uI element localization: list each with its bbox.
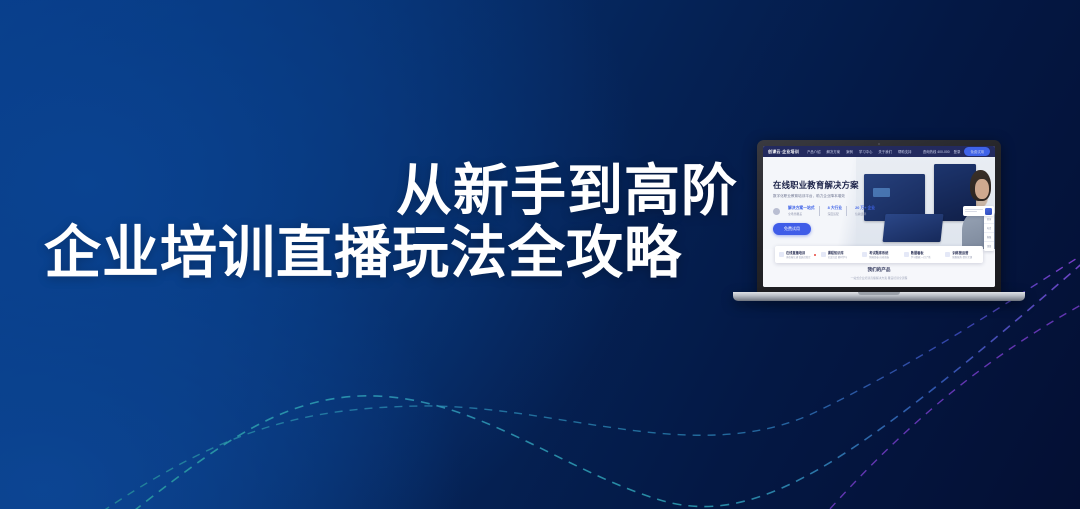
chat-avatar [985, 208, 992, 215]
hero-stat-2: 20 万+ 企业 信赖选择 [851, 206, 879, 216]
hero-stat-2-label: 信赖选择 [855, 212, 875, 216]
nav-link-5[interactable]: 帮助支持 [898, 149, 912, 154]
feature-item-2[interactable]: 考试题库系统 智能组卷 自动阅卷 [858, 250, 900, 260]
nav-link-1[interactable]: 解决方案 [827, 149, 841, 154]
feature-badge-dot-icon [814, 254, 816, 256]
promotional-banner: 从新手到高阶 企业培训直播玩法全攻略 创课云·企业培训 产品介绍 解决方案 案例… [0, 0, 1080, 509]
side-toolbar: 咨询 电话 客服 顶部 [984, 214, 994, 251]
hero-stat-1-label: 深度适配 [828, 212, 843, 216]
stat-badge-icon [773, 208, 780, 215]
feature-sub-2: 智能组卷 自动阅卷 [869, 255, 889, 259]
feature-sub-4: 陪跑服务 提升完课 [952, 255, 972, 259]
tablet-device [882, 214, 943, 242]
feature-icon-1 [821, 252, 826, 257]
site-hero: 在线职业教育解决方案 数字化职业教育培训平台，助力企业降本增效 解决方案一站式 … [763, 157, 995, 249]
laptop-screen: 创课云·企业培训 产品介绍 解决方案 案例 学习中心 关于我们 帮助支持 咨询热… [763, 146, 995, 287]
feature-title-0: 在线直播培训 [786, 250, 811, 255]
feature-sub-1: 沉淀沉淀 随时学习 [828, 255, 848, 259]
hero-stat-0-value: 解决方案一站式 [788, 206, 815, 211]
hero-copy: 在线职业教育解决方案 数字化职业教育培训平台，助力企业降本增效 解决方案一站式 … [773, 179, 885, 235]
site-logo: 创课云·企业培训 [768, 149, 799, 155]
hero-subtitle: 数字化职业教育培训平台，助力企业降本增效 [773, 194, 885, 199]
feature-sub-0: 多终端互通 低延迟稳定 [786, 255, 811, 259]
headline-block: 从新手到高阶 企业培训直播玩法全攻略 [44, 160, 744, 284]
hero-stats: 解决方案一站式 全场景覆盖 8 大行业 深度适配 20 万+ 企业 信赖选择 [773, 206, 885, 216]
webcam-icon [878, 143, 880, 145]
nav-link-3[interactable]: 学习中心 [859, 149, 873, 154]
nav-link-2[interactable]: 案例 [846, 149, 853, 154]
hero-stat-2-value: 20 万+ 企业 [855, 206, 875, 211]
hero-stat-1: 8 大行业 深度适配 [824, 206, 848, 216]
site-nav-links: 产品介绍 解决方案 案例 学习中心 关于我们 帮助支持 [807, 149, 912, 154]
laptop-mockup: 创课云·企业培训 产品介绍 解决方案 案例 学习中心 关于我们 帮助支持 咨询热… [733, 140, 1025, 315]
feature-icon-4 [945, 252, 950, 257]
nav-link-4[interactable]: 关于我们 [878, 149, 892, 154]
side-toolbar-item-2[interactable]: 客服 [984, 233, 994, 242]
site-navbar: 创课云·企业培训 产品介绍 解决方案 案例 学习中心 关于我们 帮助支持 咨询热… [763, 146, 995, 157]
hero-cta-button[interactable]: 免费试用 [773, 223, 811, 235]
side-toolbar-item-1[interactable]: 电话 [984, 224, 994, 233]
section-subtitle: 一站式企业培训直播解决方案 覆盖培训全流程 [763, 276, 995, 280]
site-nav-right: 咨询热线 400-000 登录 免费试用 [923, 147, 990, 155]
laptop-base [733, 292, 1025, 301]
nav-cta-button[interactable]: 免费试用 [964, 147, 990, 155]
feature-title-2: 考试题库系统 [869, 250, 889, 255]
nav-link-0[interactable]: 产品介绍 [807, 149, 821, 154]
feature-icon-2 [862, 252, 867, 257]
feature-item-3[interactable]: 数据看板 学习数据 一目了然 [900, 250, 942, 260]
section-title: 我们的产品 [763, 267, 995, 273]
feature-icon-3 [904, 252, 909, 257]
feature-item-1[interactable]: 课程知识库 沉淀沉淀 随时学习 [817, 250, 859, 260]
side-toolbar-item-3[interactable]: 顶部 [984, 242, 994, 250]
laptop-lid: 创课云·企业培训 产品介绍 解决方案 案例 学习中心 关于我们 帮助支持 咨询热… [757, 140, 1001, 294]
feature-item-0[interactable]: 在线直播培训 多终端互通 低延迟稳定 [775, 250, 817, 260]
chat-prompt-lines [965, 209, 983, 213]
feature-title-4: 训练营运营 [952, 250, 972, 255]
headline-line-1: 从新手到高阶 [44, 160, 744, 222]
side-toolbar-item-0[interactable]: 咨询 [984, 215, 994, 224]
hero-stat-0: 解决方案一站式 全场景覆盖 [784, 206, 820, 216]
nav-phone: 咨询热线 400-000 [923, 149, 950, 154]
feature-title-1: 课程知识库 [828, 250, 848, 255]
dashed-curve-accent [820, 300, 1080, 509]
chat-prompt-widget[interactable] [963, 206, 994, 216]
hero-stat-0-label: 全场景覆盖 [788, 212, 815, 216]
feature-sub-3: 学习数据 一目了然 [911, 255, 931, 259]
laptop-notch [858, 292, 900, 295]
feature-card-row: 在线直播培训 多终端互通 低延迟稳定 课程知识库 沉淀沉淀 随时学习 [775, 246, 983, 263]
person-face [975, 179, 989, 199]
feature-item-4[interactable]: 训练营运营 陪跑服务 提升完课 [941, 250, 983, 260]
hero-stat-1-value: 8 大行业 [828, 206, 843, 211]
headline-line-2: 企业培训直播玩法全攻略 [44, 222, 744, 284]
nav-login-link[interactable]: 登录 [954, 149, 961, 154]
feature-icon-0 [779, 252, 784, 257]
hero-title: 在线职业教育解决方案 [773, 179, 885, 191]
feature-title-3: 数据看板 [911, 250, 931, 255]
